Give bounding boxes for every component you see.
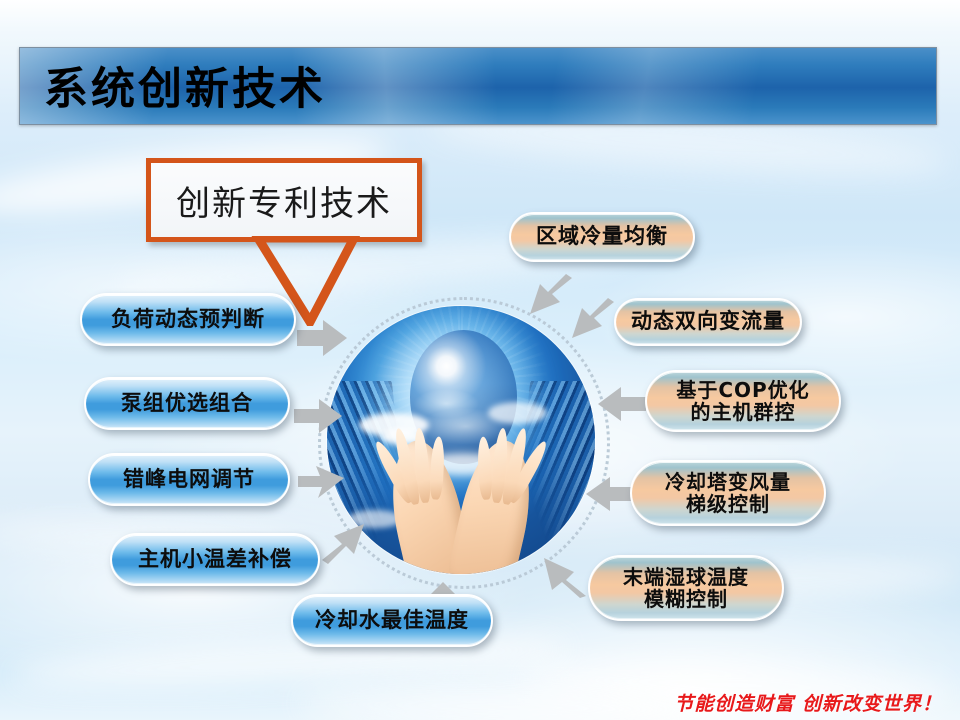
node-label-line2: 梯级控制: [686, 492, 770, 516]
node-label: 负荷动态预判断: [111, 308, 265, 332]
arrow-left-icon: [596, 384, 648, 424]
node-temp-compensation[interactable]: 主机小温差补偿: [110, 533, 320, 586]
node-bidirectional-flow[interactable]: 动态双向变流量: [614, 298, 802, 346]
node-label: 动态双向变流量: [631, 310, 785, 334]
node-label: 泵组优选组合: [121, 392, 253, 416]
callout-box: 创新专利技术: [146, 158, 422, 242]
node-label-line2: 模糊控制: [644, 587, 728, 611]
node-label-line2: 的主机群控: [691, 400, 796, 424]
node-load-forecast[interactable]: 负荷动态预判断: [80, 293, 296, 346]
footer-slogan: 节能创造财富 创新改变世界！: [674, 689, 942, 716]
node-label: 基于COP优化 的主机群控: [676, 379, 809, 424]
node-cooling-water-temp[interactable]: 冷却水最佳温度: [291, 594, 493, 647]
node-label: 区域冷量均衡: [536, 225, 668, 249]
node-label: 主机小温差补偿: [138, 548, 292, 572]
node-wetbulb-fuzzy-control[interactable]: 末端湿球温度 模糊控制: [588, 555, 784, 621]
page-title: 系统创新技术: [44, 53, 326, 117]
node-label: 错峰电网调节: [123, 468, 255, 492]
node-label-line1: 末端湿球温度: [623, 565, 749, 589]
node-label: 末端湿球温度 模糊控制: [623, 566, 749, 611]
node-pump-combination[interactable]: 泵组优选组合: [84, 377, 290, 430]
node-peak-shifting[interactable]: 错峰电网调节: [88, 453, 290, 506]
node-cooling-tower-control[interactable]: 冷却塔变风量 梯级控制: [630, 460, 826, 526]
title-banner: 系统创新技术: [19, 47, 937, 125]
node-cop-optimization[interactable]: 基于COP优化 的主机群控: [645, 370, 841, 432]
slide-canvas: 系统创新技术 创新专利技术: [0, 0, 960, 720]
node-label-line1: 冷却塔变风量: [665, 470, 791, 494]
callout-label: 创新专利技术: [176, 176, 392, 225]
node-label-line1: 基于COP优化: [676, 378, 809, 402]
node-label: 冷却水最佳温度: [315, 609, 469, 633]
cloud-wisp: [300, 686, 721, 720]
node-label: 冷却塔变风量 梯级控制: [665, 471, 791, 516]
hub-image: [327, 306, 595, 574]
node-zone-balance[interactable]: 区域冷量均衡: [509, 212, 695, 262]
